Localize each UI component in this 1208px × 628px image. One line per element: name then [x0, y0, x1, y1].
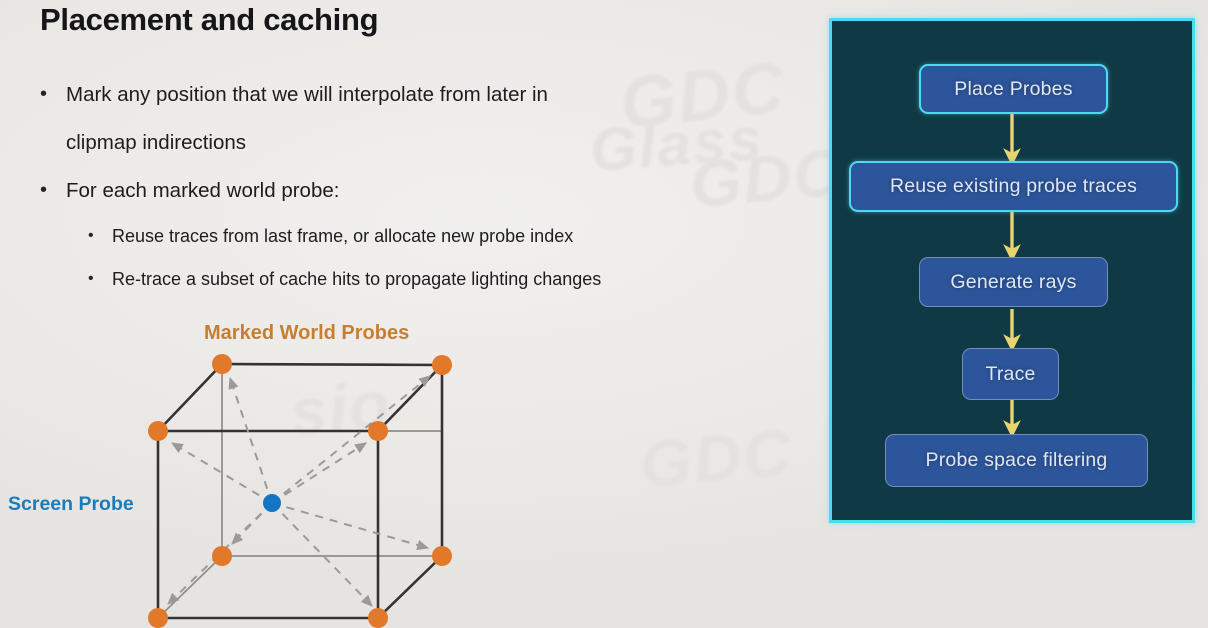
bullet-text: For each marked world probe:	[66, 179, 740, 203]
flow-node-place-probes[interactable]: Place Probes	[919, 64, 1108, 114]
slide: GDC Glass GDC sio GDC Placement and cach…	[0, 0, 1208, 628]
bullet-dot: •	[88, 271, 112, 287]
flow-node-label: Reuse existing probe traces	[890, 175, 1137, 198]
bullet-text: Re-trace a subset of cache hits to propa…	[112, 269, 828, 290]
bullet-text: Mark any position that we will interpola…	[66, 83, 740, 107]
world-probe-dot	[148, 608, 168, 628]
bullet-dot: •	[40, 84, 66, 104]
flow-node-generate-rays[interactable]: Generate rays	[919, 257, 1108, 307]
bullet-text: clipmap indirections	[66, 131, 740, 155]
world-probe-dot	[368, 608, 388, 628]
bullet-item: • Mark any position that we will interpo…	[40, 83, 740, 107]
world-probe-dot	[432, 355, 452, 375]
flow-node-trace[interactable]: Trace	[962, 348, 1059, 400]
flow-node-reuse-existing-probe-traces[interactable]: Reuse existing probe traces	[849, 161, 1178, 212]
world-probe-dot	[368, 421, 388, 441]
cube-edges	[158, 364, 442, 618]
bullet-item: • Reuse traces from last frame, or alloc…	[88, 226, 828, 247]
bullet-dot: •	[88, 228, 112, 244]
flow-node-probe-space-filtering[interactable]: Probe space filtering	[885, 434, 1148, 487]
world-probe-dot	[212, 354, 232, 374]
screen-probe-dot	[263, 494, 281, 512]
world-probe-dot	[212, 546, 232, 566]
bullet-item: clipmap indirections	[40, 131, 740, 155]
probe-cube-diagram	[0, 310, 520, 628]
flow-node-label: Generate rays	[950, 271, 1076, 294]
flow-node-label: Trace	[985, 363, 1035, 386]
flow-node-label: Place Probes	[954, 78, 1072, 101]
world-probe-dot	[148, 421, 168, 441]
cube-hidden-edges	[158, 364, 442, 618]
bullet-dot: •	[40, 180, 66, 200]
pipeline-flow-panel: Place Probes Reuse existing probe traces…	[829, 18, 1195, 523]
flow-node-label: Probe space filtering	[926, 449, 1108, 472]
page-title: Placement and caching	[40, 2, 378, 38]
bullet-item: • For each marked world probe:	[40, 179, 740, 203]
world-probe-dot	[432, 546, 452, 566]
bullet-text: Reuse traces from last frame, or allocat…	[112, 226, 828, 247]
probe-interpolation-rays	[168, 376, 430, 606]
bullet-item: • Re-trace a subset of cache hits to pro…	[88, 269, 828, 290]
